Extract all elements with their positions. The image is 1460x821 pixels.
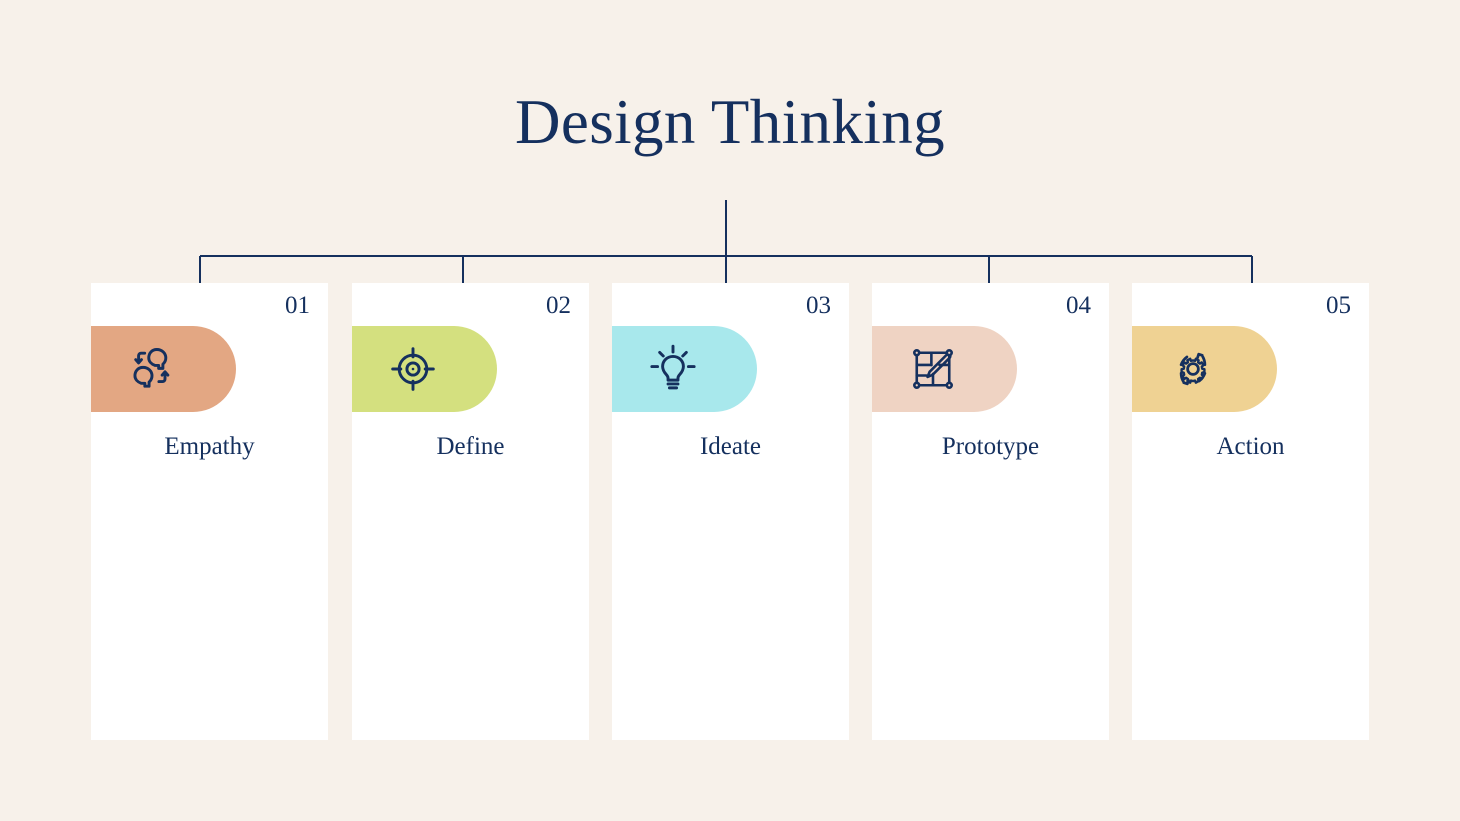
card-label: Action xyxy=(1132,433,1369,461)
card-label: Empathy xyxy=(91,433,328,461)
card-ideate[interactable]: 03 Ideate xyxy=(612,283,849,740)
slide-canvas: Design Thinking 01 Empathy 02 xyxy=(0,0,1460,821)
card-define[interactable]: 02 Define xyxy=(352,283,589,740)
card-number: 03 xyxy=(806,293,831,318)
card-number: 01 xyxy=(285,293,310,318)
crosshair-target-icon xyxy=(387,343,439,395)
lightbulb-rays-icon xyxy=(647,343,699,395)
card-label: Define xyxy=(352,433,589,461)
icon-pill xyxy=(1132,326,1277,412)
card-number: 02 xyxy=(546,293,571,318)
icon-pill xyxy=(612,326,757,412)
two-heads-exchange-icon xyxy=(126,343,178,395)
card-action[interactable]: 05 Action xyxy=(1132,283,1369,740)
card-prototype[interactable]: 04 Prototype xyxy=(872,283,1109,740)
card-number: 04 xyxy=(1066,293,1091,318)
icon-pill xyxy=(872,326,1017,412)
card-label: Prototype xyxy=(872,433,1109,461)
card-number: 05 xyxy=(1326,293,1351,318)
card-label: Ideate xyxy=(612,433,849,461)
blueprint-pencil-icon xyxy=(907,343,959,395)
card-empathy[interactable]: 01 Empathy xyxy=(91,283,328,740)
gear-refresh-icon xyxy=(1167,343,1219,395)
icon-pill xyxy=(352,326,497,412)
page-title: Design Thinking xyxy=(0,86,1460,159)
icon-pill xyxy=(91,326,236,412)
